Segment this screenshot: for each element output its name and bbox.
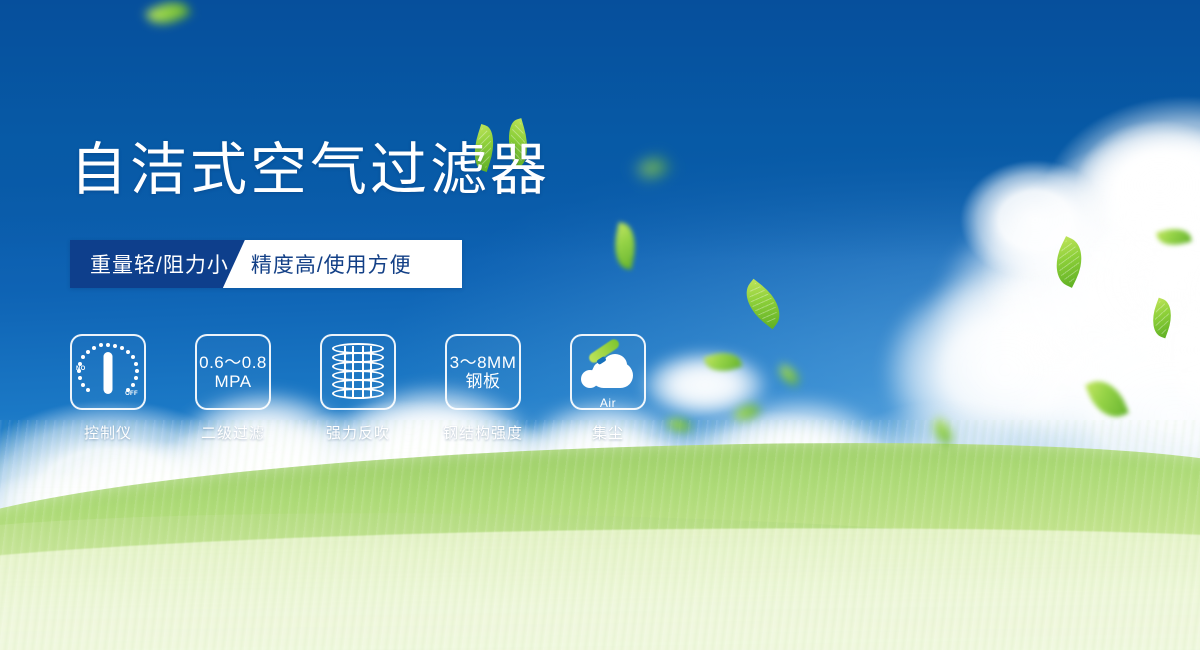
gauge-off-label: OFF bbox=[125, 391, 138, 397]
subtitle-left: 重量轻/阻力小 bbox=[70, 240, 245, 288]
pressure-range: 0.6～0.8 bbox=[199, 353, 267, 372]
subtitle-right: 精度高/使用方便 bbox=[223, 240, 462, 288]
feature-caption: 强力反吹 bbox=[326, 422, 390, 443]
feature-item-steel[interactable]: 3～8MM 钢板 钢结构强度 bbox=[445, 334, 521, 443]
steel-text-icon: 3～8MM 钢板 bbox=[445, 334, 521, 410]
gauge-dial: NO OFF bbox=[77, 341, 139, 403]
feature-caption: 二级过滤 bbox=[201, 422, 265, 443]
steel-thickness: 3～8MM bbox=[450, 353, 517, 372]
pressure-text-icon: 0.6～0.8 MPA bbox=[195, 334, 271, 410]
feature-list: NO OFF 控制仪 0.6～0.8 MPA 二级过滤 bbox=[70, 334, 646, 443]
air-label: Air bbox=[579, 396, 637, 410]
feature-caption: 集尘 bbox=[592, 422, 624, 443]
product-banner: 自洁式空气过滤器 重量轻/阻力小 精度高/使用方便 bbox=[0, 0, 1200, 650]
gauge-no-label: NO bbox=[76, 366, 86, 372]
feature-item-control[interactable]: NO OFF 控制仪 bbox=[70, 334, 146, 443]
steel-material: 钢板 bbox=[465, 372, 500, 391]
feature-item-dust[interactable]: Air 集尘 bbox=[570, 334, 646, 443]
subtitle-bar: 重量轻/阻力小 精度高/使用方便 bbox=[70, 240, 462, 288]
feature-item-pressure[interactable]: 0.6～0.8 MPA 二级过滤 bbox=[195, 334, 271, 443]
cloud-puff bbox=[960, 160, 1110, 280]
cloud-air-icon: Air bbox=[570, 334, 646, 410]
gauge-icon: NO OFF bbox=[70, 334, 146, 410]
feature-item-blowback[interactable]: 强力反吹 bbox=[320, 334, 396, 443]
feature-caption: 钢结构强度 bbox=[443, 422, 523, 443]
page-title: 自洁式空气过滤器 bbox=[70, 142, 550, 199]
filter-stack-icon bbox=[320, 334, 396, 410]
pressure-unit: MPA bbox=[214, 372, 251, 391]
cloud-glyph: Air bbox=[579, 348, 637, 396]
filter-cartridge bbox=[332, 343, 384, 401]
feature-caption: 控制仪 bbox=[84, 422, 132, 443]
